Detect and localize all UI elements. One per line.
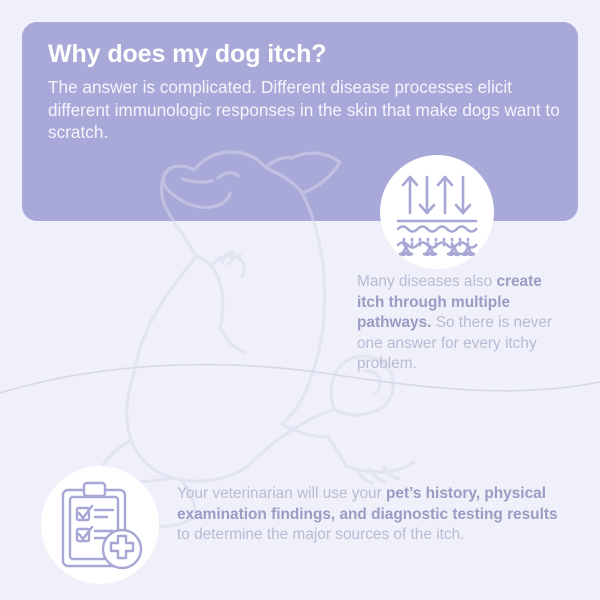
vet-paragraph: Your veterinarian will use your pet’s hi… xyxy=(177,484,565,546)
skin-arrows-icon xyxy=(380,155,494,269)
pathways-lead: Many diseases also xyxy=(357,273,496,290)
page-title: Why does my dog itch? xyxy=(48,38,552,70)
clipboard-checklist-medical-icon xyxy=(41,466,159,584)
vet-lead: Your veterinarian will use your xyxy=(177,485,386,502)
skin-icon-badge xyxy=(380,155,494,269)
pathways-paragraph: Many diseases also create itch through m… xyxy=(357,272,563,375)
vet-tail: to determine the major sources of the it… xyxy=(177,526,464,543)
clipboard-icon-badge xyxy=(41,466,159,584)
infographic-poster: Why does my dog itch? The answer is comp… xyxy=(0,0,600,600)
header-body-text: The answer is complicated. Different dis… xyxy=(48,76,564,144)
header-card: Why does my dog itch? The answer is comp… xyxy=(22,22,578,221)
